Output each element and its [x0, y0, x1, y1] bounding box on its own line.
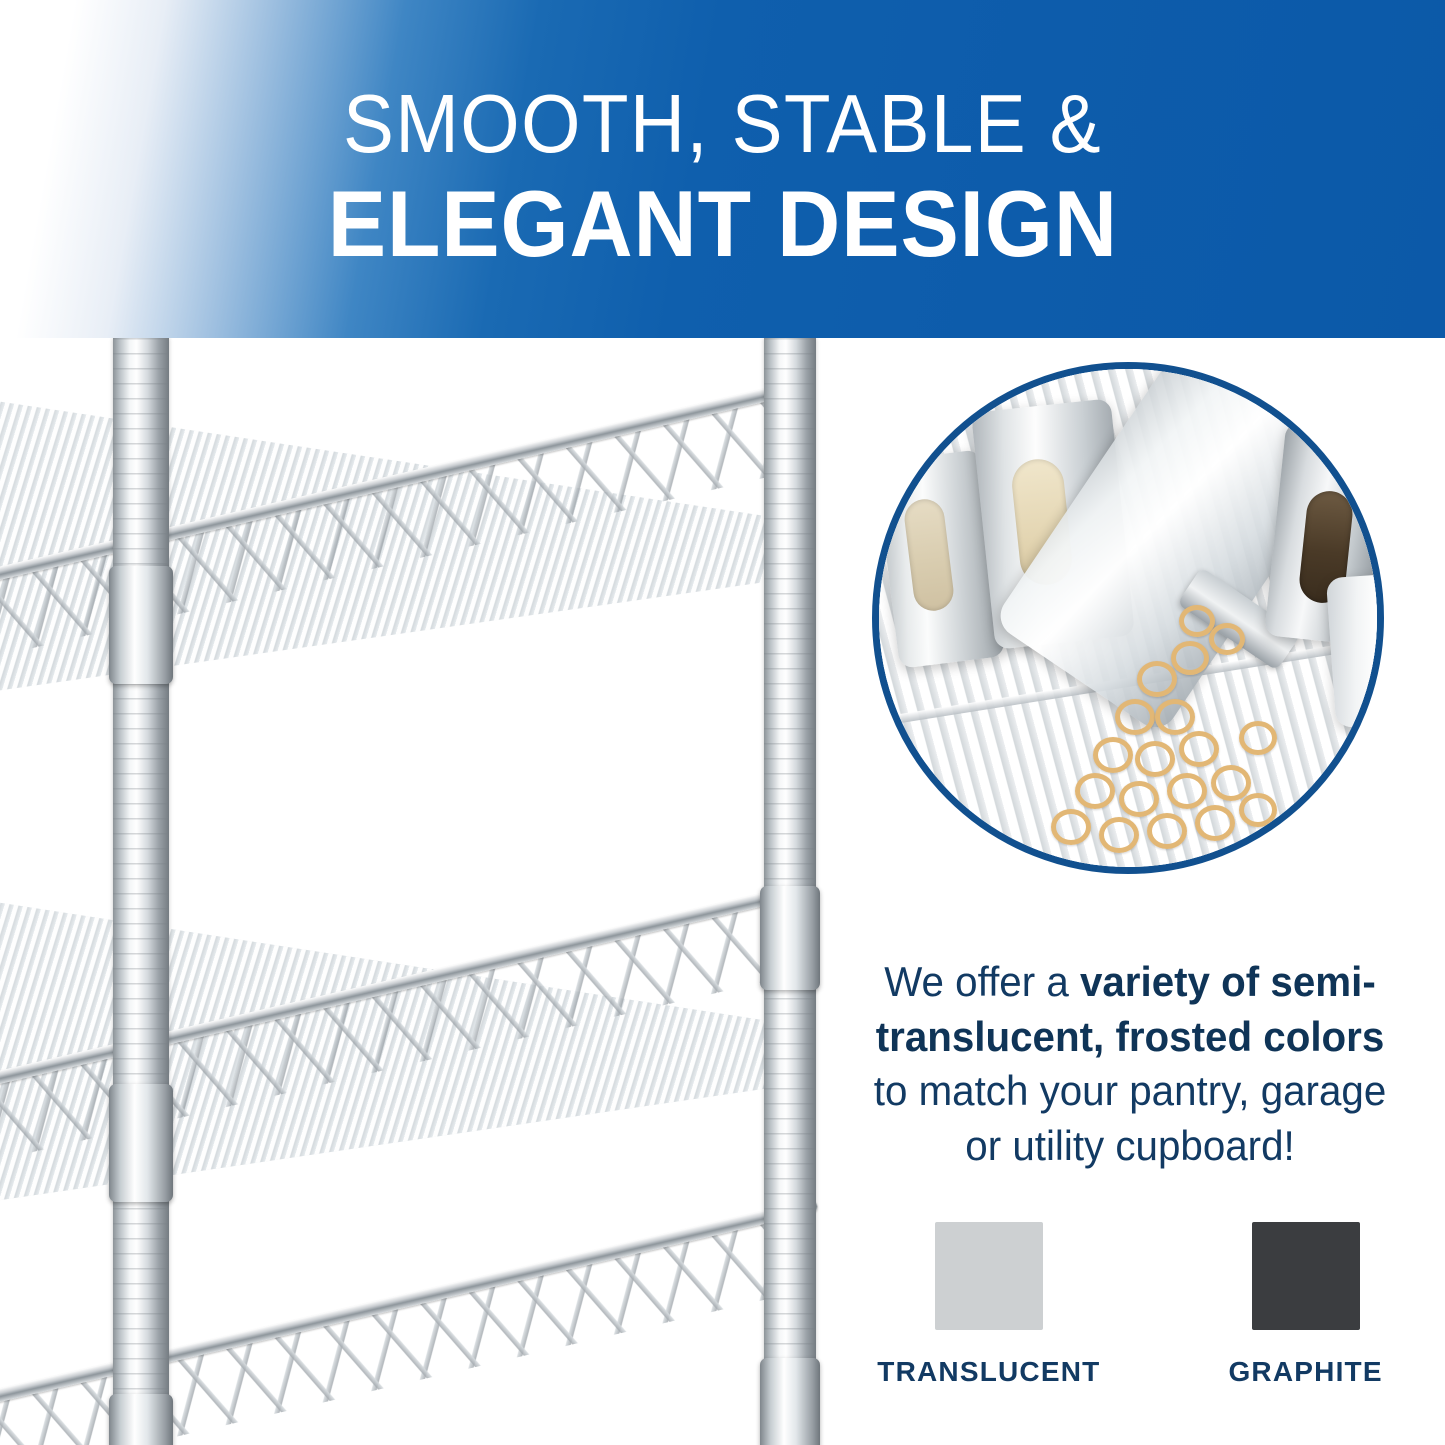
swatch-translucent-label: TRANSLUCENT	[877, 1356, 1100, 1388]
cereal-piece	[1119, 781, 1159, 817]
cereal-piece	[1211, 765, 1251, 801]
cereal-piece	[1093, 737, 1133, 773]
jars-on-shelf-photo	[872, 362, 1384, 874]
cereal-piece	[1155, 699, 1195, 735]
header-banner: SMOOTH, STABLE & ELEGANT DESIGN	[0, 0, 1445, 338]
post-collar-right-top	[760, 886, 820, 990]
cereal-piece	[1171, 641, 1209, 675]
color-swatch-group: TRANSLUCENT GRAPHITE	[880, 1222, 1380, 1388]
headline-line-1: SMOOTH, STABLE &	[343, 82, 1102, 165]
cereal-piece	[1115, 699, 1155, 735]
cereal-piece	[1075, 773, 1115, 809]
swatch-translucent[interactable]: TRANSLUCENT	[877, 1222, 1100, 1388]
headline-line-2: ELEGANT DESIGN	[327, 177, 1117, 271]
shelf-post-left	[113, 338, 169, 1445]
cereal-piece	[1209, 623, 1245, 655]
cereal-piece	[1239, 793, 1277, 827]
cereal-piece	[1195, 805, 1235, 841]
swatch-graphite[interactable]: GRAPHITE	[1228, 1222, 1382, 1388]
swatch-translucent-chip	[935, 1222, 1043, 1330]
copy-part-1: We offer a	[884, 958, 1080, 1005]
copy-part-3: to match your pantry, garage or utility …	[874, 1067, 1386, 1169]
cereal-piece	[1179, 731, 1219, 767]
cereal-piece	[1239, 721, 1277, 755]
swatch-graphite-label: GRAPHITE	[1228, 1356, 1382, 1388]
cereal-piece	[1051, 809, 1091, 845]
cereal-piece	[1099, 817, 1139, 853]
cereal-piece	[1167, 773, 1207, 809]
header-banner-text-group: SMOOTH, STABLE & ELEGANT DESIGN	[0, 0, 1445, 338]
cereal-piece	[1147, 813, 1187, 849]
cereal-piece	[1135, 741, 1175, 777]
shelving-scene	[0, 338, 830, 1445]
jar-far-right	[1326, 572, 1384, 728]
swatch-graphite-chip	[1252, 1222, 1360, 1330]
cereal-piece	[1137, 661, 1177, 697]
post-collar-right-bottom	[760, 1358, 820, 1445]
post-collar-left-middle	[109, 1084, 173, 1202]
post-collar-left-top	[109, 566, 173, 684]
product-feature-graphic: SMOOTH, STABLE & ELEGANT DESIGN	[0, 0, 1445, 1445]
post-collar-left-bottom	[109, 1394, 173, 1445]
marketing-copy: We offer a variety of semi-translucent, …	[871, 955, 1389, 1173]
wire-shelving-photo	[0, 338, 830, 1445]
